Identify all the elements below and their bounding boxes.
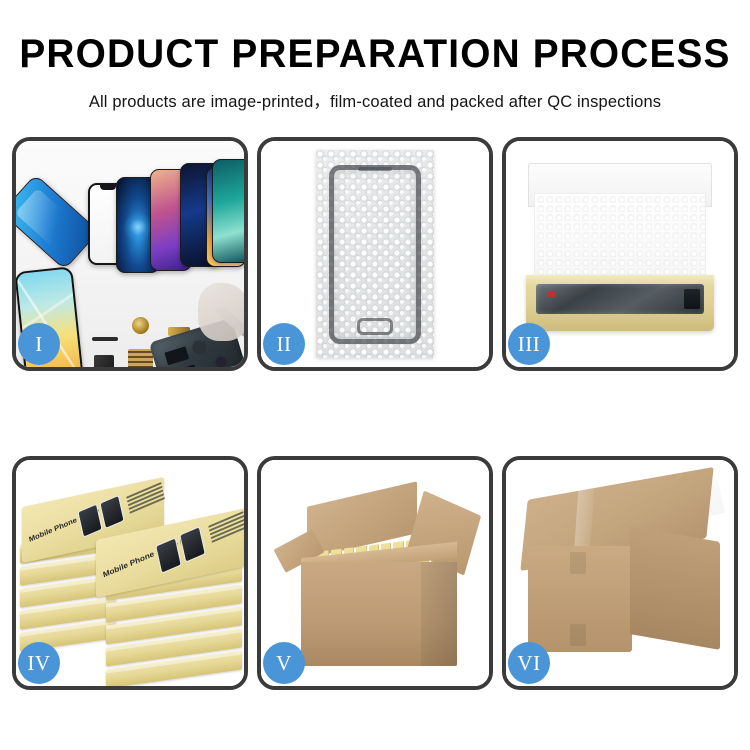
bubble-wrap-sheet bbox=[316, 150, 434, 358]
kraft-tray bbox=[526, 275, 714, 331]
step-panel-2[interactable]: II bbox=[257, 137, 493, 371]
part-connector-grid bbox=[128, 349, 153, 367]
mainboard-camera bbox=[191, 339, 208, 356]
open-carton bbox=[275, 488, 483, 666]
box-thumb-front-2 bbox=[179, 526, 206, 563]
foam-padding bbox=[534, 193, 706, 287]
sealed-carton bbox=[524, 484, 726, 664]
carton-seam-top bbox=[570, 552, 586, 574]
step-badge-4: IV bbox=[18, 642, 60, 684]
technician-hand bbox=[198, 283, 244, 341]
step-panel-4[interactable]: Mobile Phone Spare Parts Mobile Phone Sp… bbox=[12, 456, 248, 690]
page-header: PRODUCT PREPARATION PROCESS All products… bbox=[0, 0, 750, 112]
home-button-cutout bbox=[357, 318, 393, 335]
step-badge-6: VI bbox=[508, 642, 550, 684]
step-badge-3: III bbox=[508, 323, 550, 365]
step-badge-5: V bbox=[263, 642, 305, 684]
step-badge-1: I bbox=[18, 323, 60, 365]
mainboard-chip-2 bbox=[168, 365, 196, 367]
page-title: PRODUCT PREPARATION PROCESS bbox=[11, 34, 739, 74]
step-panel-5[interactable]: V bbox=[257, 456, 493, 690]
wrapped-screen-outline bbox=[329, 165, 421, 344]
carton-seam-bottom bbox=[570, 624, 586, 646]
step-badge-2: II bbox=[263, 323, 305, 365]
page-subtitle: All products are image-printed，film-coat… bbox=[0, 88, 750, 112]
carton-body bbox=[301, 562, 457, 666]
mainboard-chip-1 bbox=[164, 346, 189, 365]
box-thumb-rear-2 bbox=[99, 495, 124, 529]
part-antenna bbox=[92, 337, 118, 341]
step-panel-3[interactable]: III bbox=[502, 137, 738, 371]
process-steps-grid: I II bbox=[12, 137, 738, 690]
box-spec-lines-rear bbox=[126, 482, 166, 518]
mainboard-port bbox=[214, 355, 228, 367]
part-cable-bracket bbox=[94, 355, 114, 367]
part-vibrator-coil bbox=[132, 317, 149, 334]
phone-adhesive-blue bbox=[16, 174, 99, 270]
carton-front-face bbox=[528, 546, 632, 652]
screen-label-dot bbox=[548, 292, 556, 297]
step-panel-1[interactable]: I bbox=[12, 137, 248, 371]
step-panel-6[interactable]: VI bbox=[502, 456, 738, 690]
kraft-box bbox=[524, 159, 716, 333]
box-spec-lines-front bbox=[208, 511, 244, 547]
carton-side-face bbox=[630, 526, 720, 650]
phone-screen-teal bbox=[212, 159, 244, 263]
packed-screen bbox=[536, 284, 704, 314]
